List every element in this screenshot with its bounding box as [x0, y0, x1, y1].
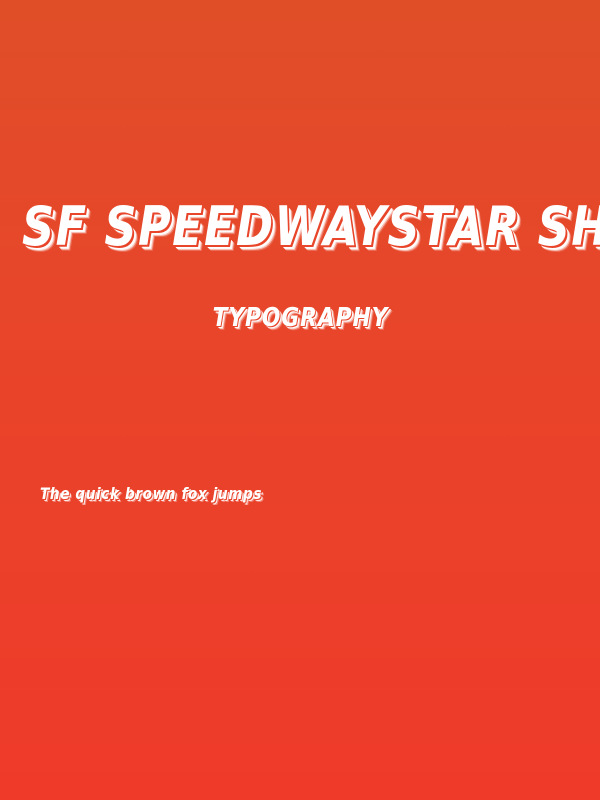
font-name-headline: SF SPEEDWAYSTAR SHADED: [22, 196, 554, 258]
pangram-sample-text: The quick brown fox jumps: [40, 483, 262, 505]
headline-container: SF SPEEDWAYSTAR SHADED: [22, 196, 600, 266]
font-specimen-canvas: SF SPEEDWAYSTAR SHADED TYPOGRAPHY The qu…: [0, 0, 600, 800]
subtitle-container: TYPOGRAPHY: [0, 302, 600, 334]
pangram-container: The quick brown fox jumps: [40, 483, 274, 505]
category-subtitle: TYPOGRAPHY: [212, 302, 388, 334]
